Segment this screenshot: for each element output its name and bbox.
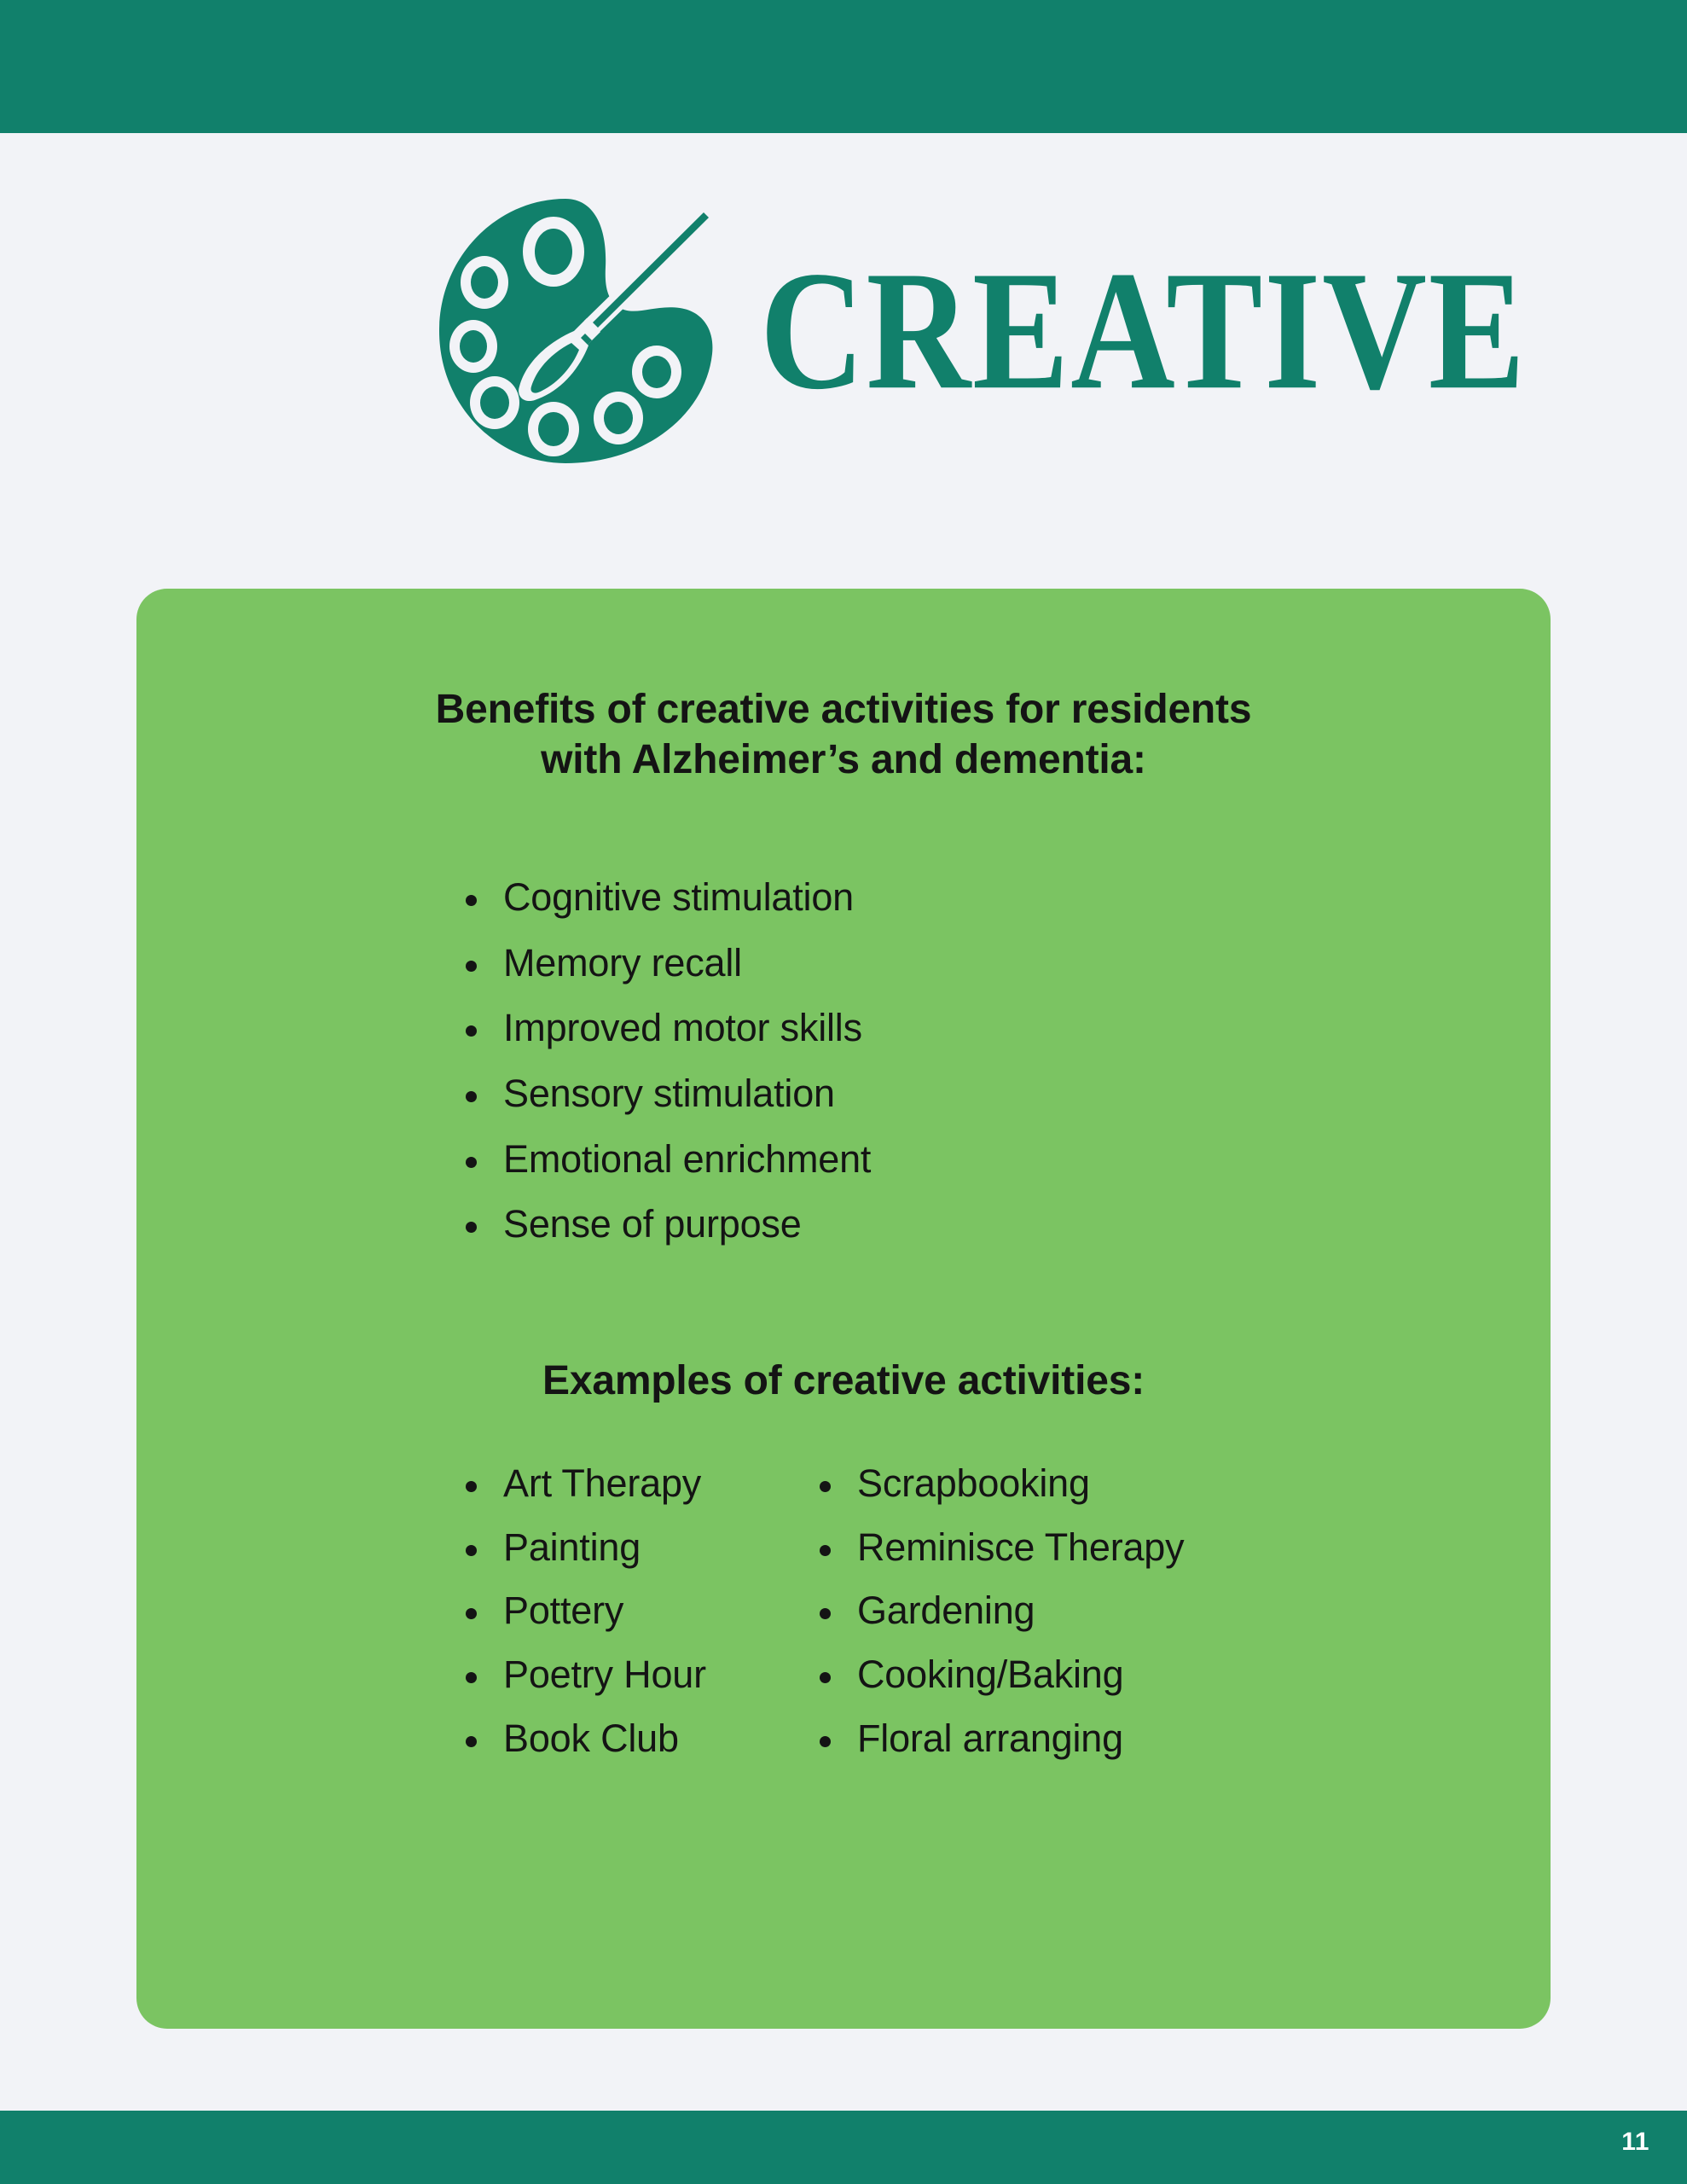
list-item: Painting — [461, 1527, 815, 1568]
list-item: Sense of purpose — [461, 1204, 871, 1245]
footer-band — [0, 2111, 1687, 2184]
list-item: Gardening — [815, 1590, 1292, 1631]
examples-columns: Art Therapy Painting Pottery Poetry Hour… — [461, 1463, 1292, 1781]
page-number: 11 — [1621, 2128, 1649, 2157]
examples-heading: Examples of creative activities: — [136, 1356, 1551, 1407]
examples-list-left: Art Therapy Painting Pottery Poetry Hour… — [461, 1463, 815, 1781]
examples-list-right: Scrapbooking Reminisce Therapy Gardening… — [815, 1463, 1292, 1781]
list-item: Emotional enrichment — [461, 1139, 871, 1180]
list-item: Poetry Hour — [461, 1654, 815, 1695]
page-root: CREATIVE Benefits of creative activities… — [0, 0, 1687, 2184]
list-item: Sensory stimulation — [461, 1073, 871, 1114]
section-header: CREATIVE — [431, 192, 1551, 469]
list-item: Cognitive stimulation — [461, 877, 871, 918]
list-item: Art Therapy — [461, 1463, 815, 1504]
list-item: Book Club — [461, 1718, 815, 1759]
benefits-heading-line-1: Benefits of creative activities for resi… — [281, 685, 1406, 735]
benefits-heading-line-2: with Alzheimer’s and dementia: — [281, 735, 1406, 786]
list-item: Floral arranging — [815, 1718, 1292, 1759]
page-title: CREATIVE — [760, 246, 1527, 416]
benefits-list: Cognitive stimulation Memory recall Impr… — [461, 877, 871, 1269]
header-band — [0, 0, 1687, 133]
benefits-heading: Benefits of creative activities for resi… — [136, 685, 1551, 785]
list-item: Memory recall — [461, 943, 871, 984]
list-item: Scrapbooking — [815, 1463, 1292, 1504]
paint-palette-icon — [431, 192, 729, 469]
list-item: Improved motor skills — [461, 1008, 871, 1048]
content-card: Benefits of creative activities for resi… — [136, 589, 1551, 2029]
list-item: Cooking/Baking — [815, 1654, 1292, 1695]
list-item: Reminisce Therapy — [815, 1527, 1292, 1568]
list-item: Pottery — [461, 1590, 815, 1631]
